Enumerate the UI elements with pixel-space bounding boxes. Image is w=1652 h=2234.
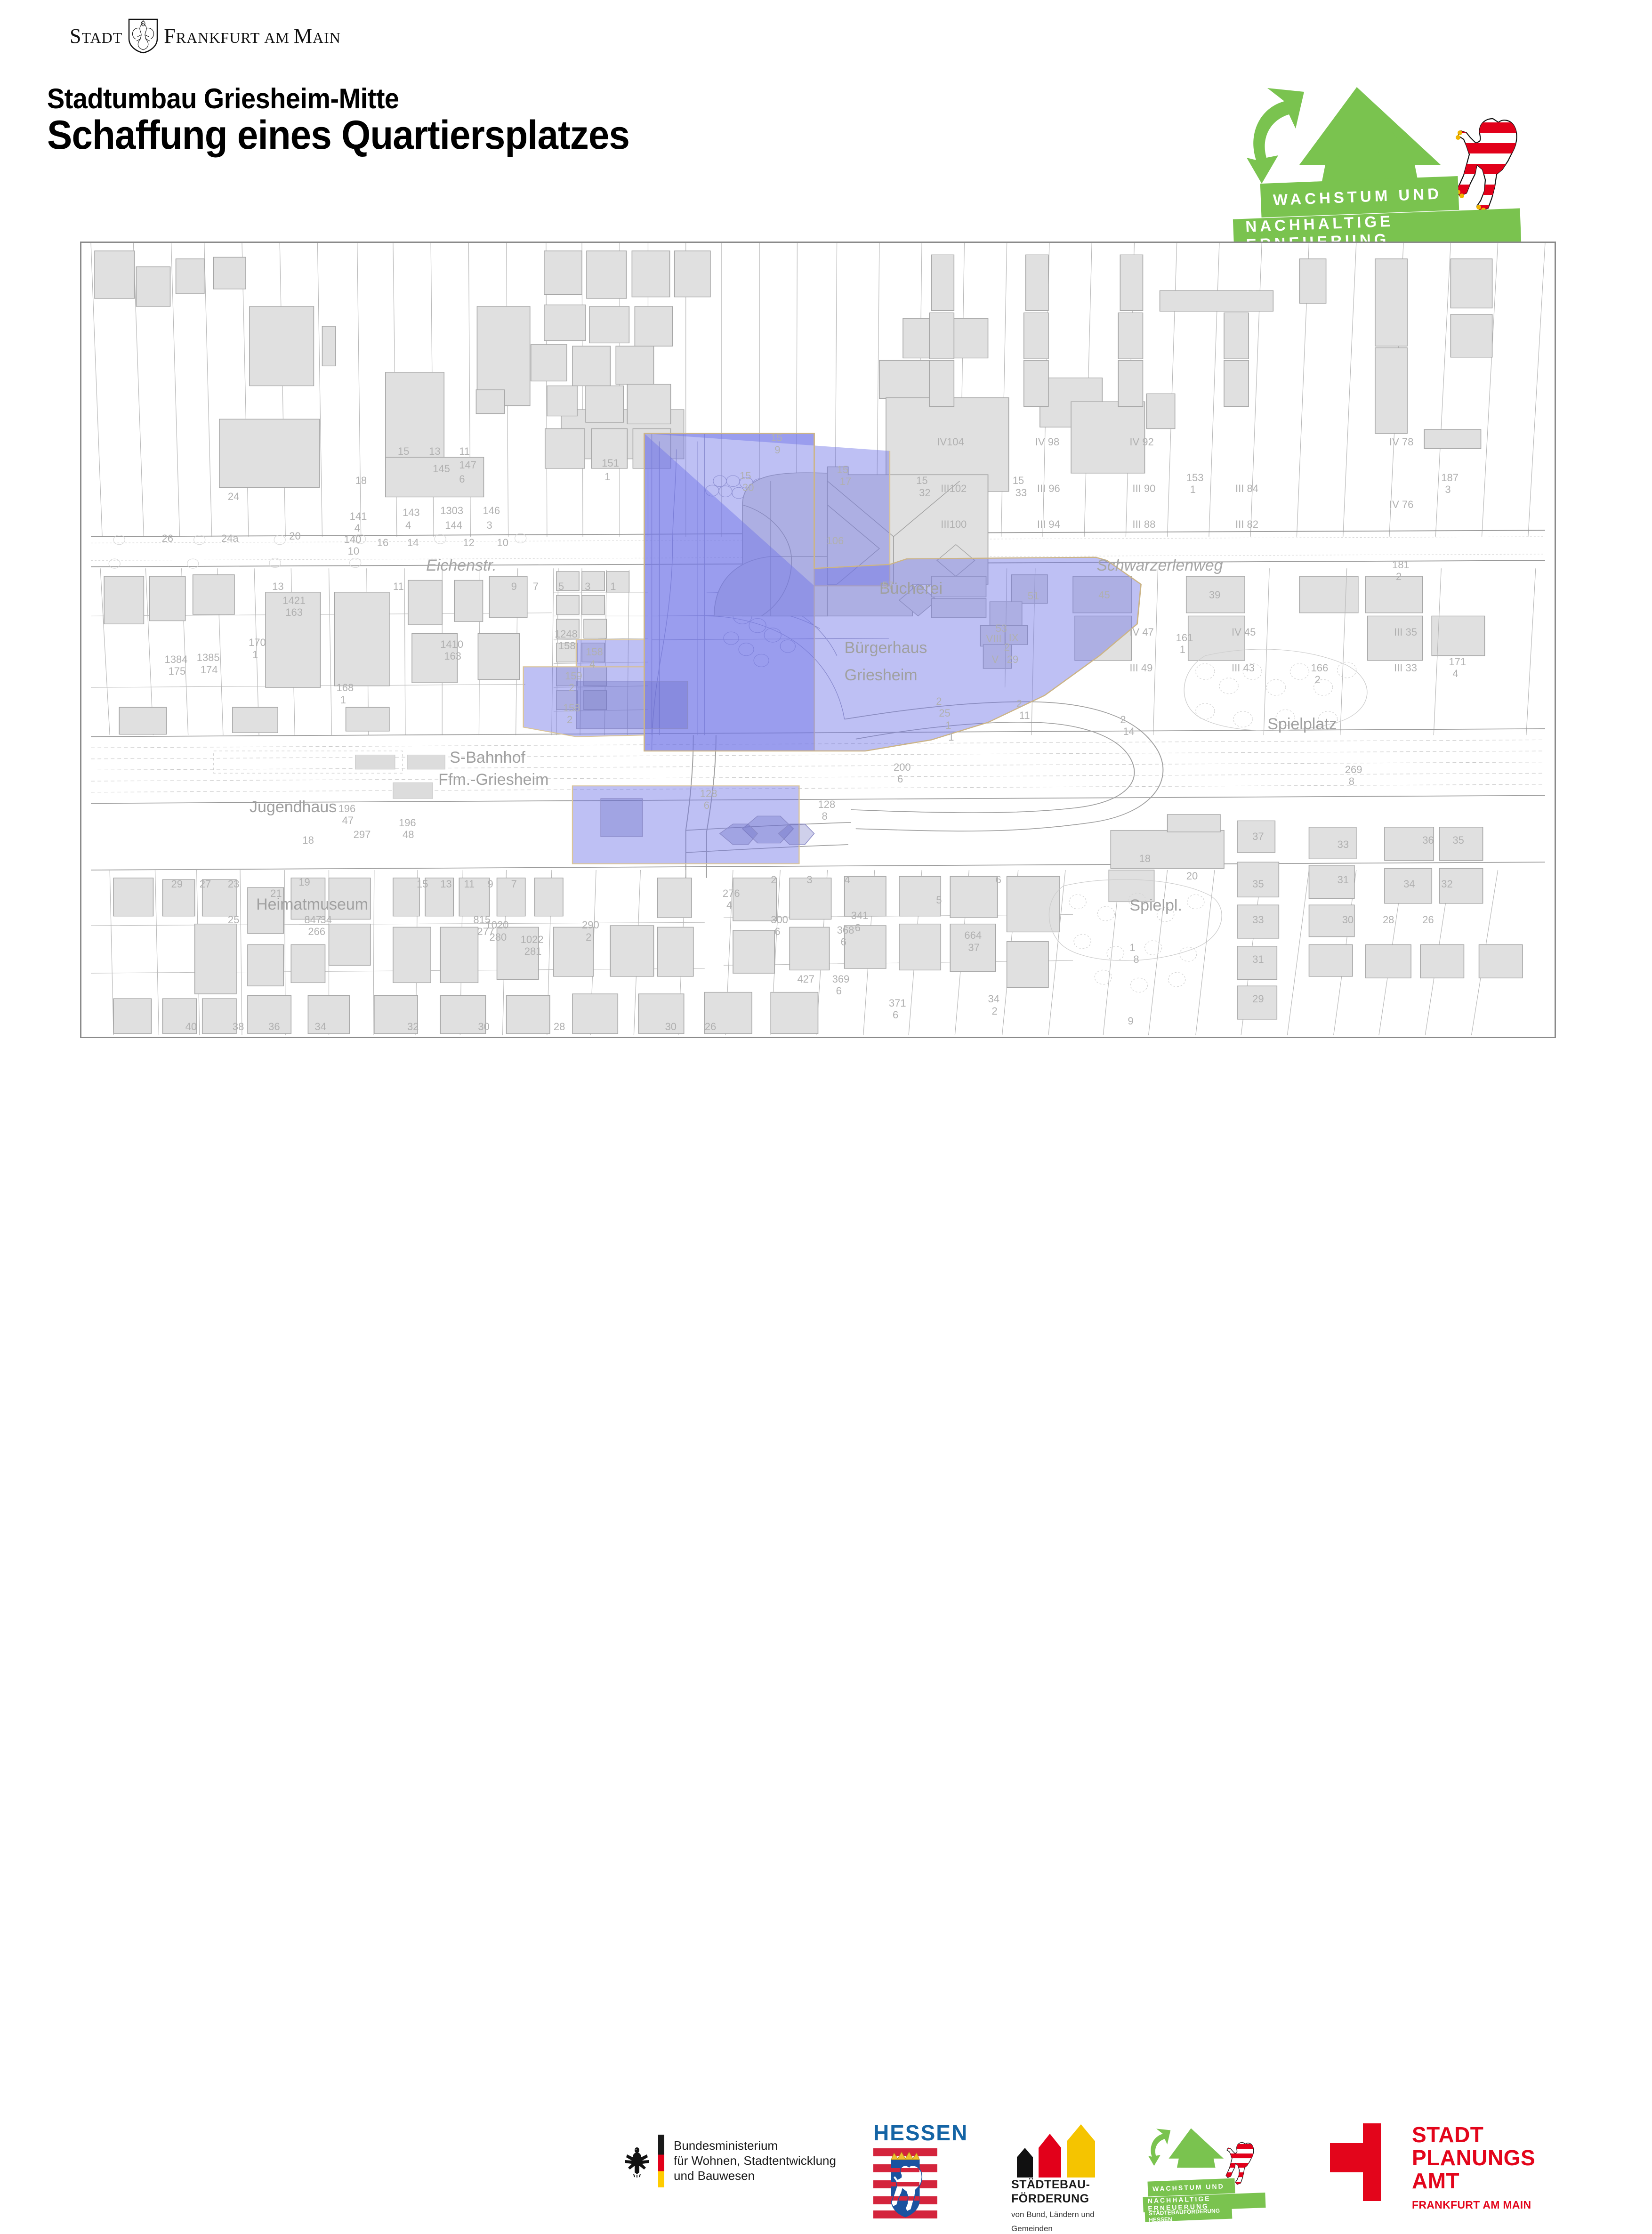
hessen-lion-icon — [1448, 108, 1532, 221]
hessen-title: HESSEN — [873, 2120, 953, 2145]
city-logo-text-left: STADT — [70, 24, 122, 48]
staedtebau-line2: FÖRDERUNG — [1011, 2192, 1120, 2206]
spa-line3: AMT — [1412, 2169, 1535, 2193]
bmwsb-line2: für Wohnen, Stadtentwicklung — [674, 2153, 836, 2169]
spa-line2: PLANUNGS — [1412, 2146, 1535, 2169]
page-header: STADT FRANKFURT AM MAIN Stadtumbau Gries… — [0, 0, 1652, 235]
staedtebau-sub1: von Bund, Ländern und — [1011, 2210, 1120, 2220]
bmwsb-line3: und Bauwesen — [674, 2169, 836, 2184]
stadtplanungsamt-logo: STADT PLANUNGS AMT FRANKFURT AM MAIN — [1330, 2123, 1594, 2215]
german-flag-bar — [658, 2135, 664, 2187]
staedtebaufoerderung-logo: STÄDTEBAU- FÖRDERUNG von Bund, Ländern u… — [1011, 2123, 1120, 2215]
bundesadler-icon — [622, 2144, 652, 2178]
map-vector-layer — [81, 243, 1555, 1037]
frankfurt-eagle-crest-icon — [127, 18, 159, 54]
spa-line1: STADT — [1412, 2123, 1535, 2146]
bmwsb-logo: Bundesministerium für Wohnen, Stadtentwi… — [622, 2130, 867, 2192]
city-logo-text-right: FRANKFURT AM MAIN — [164, 24, 341, 48]
cadastral-map[interactable]: Eichenstr.SchwarzerlenwegAm Gemeindegart… — [80, 242, 1556, 1038]
stadt-frankfurt-logo: STADT FRANKFURT AM MAIN — [70, 18, 371, 54]
staedtebau-sub2: Gemeinden — [1011, 2224, 1120, 2234]
stadtplanungsamt-text: STADT PLANUNGS AMT FRANKFURT AM MAIN — [1412, 2123, 1535, 2211]
wachstum-erneuerung-logo-small: WACHSTUM UND NACHHALTIGE ERNEUERUNG STÄD… — [1143, 2123, 1280, 2213]
project-subtitle: Stadtumbau Griesheim-Mitte — [47, 82, 399, 115]
stadtplanungsamt-mark-icon — [1330, 2123, 1396, 2201]
bmwsb-text: Bundesministerium für Wohnen, Stadtentwi… — [674, 2138, 836, 2183]
page-footer: Bundesministerium für Wohnen, Stadtentwi… — [0, 1057, 1652, 1168]
hessen-logo: HESSEN — [873, 2120, 953, 2214]
spa-sub: FRANKFURT AM MAIN — [1412, 2199, 1535, 2211]
page-title: Schaffung eines Quartiersplatzes — [47, 112, 629, 159]
staedtebau-line1: STÄDTEBAU- — [1011, 2178, 1120, 2192]
bmwsb-line1: Bundesministerium — [674, 2138, 836, 2153]
hessen-coat-of-arms-icon — [873, 2148, 953, 2219]
staedtebau-houses-icon — [1011, 2123, 1120, 2178]
map-canvas — [81, 243, 1555, 1037]
